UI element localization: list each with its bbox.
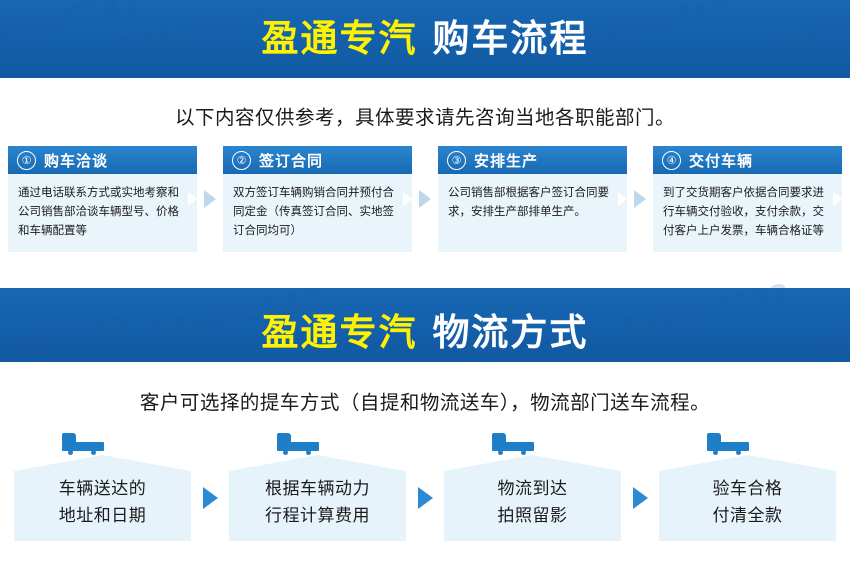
- logistics-card-body-1: 车辆送达的 地址和日期: [14, 455, 191, 541]
- truck-icon: [62, 433, 191, 455]
- truck-icon: [492, 433, 621, 455]
- truck-icon: [707, 433, 836, 455]
- section1-title-highlight: 盈通专汽: [262, 17, 418, 60]
- step-number-badge-4: ④: [662, 151, 681, 170]
- logistics-card-body-4: 验车合格 付清全款: [659, 455, 836, 541]
- logistics-card-line1-3: 物流到达: [498, 476, 568, 503]
- logistics-card-2: 根据车辆动力 行程计算费用: [229, 433, 406, 541]
- step-card-3: ③ 安排生产 公司销售部根据客户签订合同要求，安排生产部排单生产。: [438, 146, 627, 252]
- section2-title: 盈通专汽 物流方式: [0, 302, 850, 356]
- section2-title-rest: 物流方式: [432, 311, 588, 354]
- section2-title-highlight: 盈通专汽: [262, 311, 418, 354]
- step-label-2: 签订合同: [259, 150, 323, 171]
- step-number-badge-3: ③: [447, 151, 466, 170]
- step-label-4: 交付车辆: [689, 150, 753, 171]
- step-arrow-icon-3: [627, 146, 653, 252]
- logistics-card-4: 验车合格 付清全款: [659, 433, 836, 541]
- logistics-card-line1-4: 验车合格: [713, 476, 783, 503]
- step-body-2: 双方签订车辆购销合同并预付合同定金（传真签订合同、实地签订合同均可）: [223, 174, 412, 250]
- step-number-badge-1: ①: [17, 151, 36, 170]
- step-header-2: ② 签订合同: [223, 146, 412, 174]
- step-label-3: 安排生产: [474, 150, 538, 171]
- step-body-4: 到了交货期客户依据合同要求进行车辆交付验收，支付余款，交付客户上户发票，车辆合格…: [653, 174, 842, 250]
- logistics-card-line1-1: 车辆送达的: [59, 476, 147, 503]
- logistics-card-body-2: 根据车辆动力 行程计算费用: [229, 455, 406, 541]
- step-number-badge-2: ②: [232, 151, 251, 170]
- step-header-3: ③ 安排生产: [438, 146, 627, 174]
- step-arrow-icon-2: [412, 146, 438, 252]
- purchase-steps: ① 购车洽谈 通过电话联系方式或实地考察和公司销售部洽谈车辆型号、价格和车辆配置…: [0, 146, 850, 252]
- step-card-1: ① 购车洽谈 通过电话联系方式或实地考察和公司销售部洽谈车辆型号、价格和车辆配置…: [8, 146, 197, 252]
- logistics-card-body-3: 物流到达 拍照留影: [444, 455, 621, 541]
- logistics-card-line1-2: 根据车辆动力: [265, 476, 370, 503]
- logistics-card-line2-3: 拍照留影: [498, 503, 568, 530]
- logistics-steps: 车辆送达的 地址和日期 根据车辆动力 行程计算费用: [0, 433, 850, 541]
- logistics-arrow-icon-2: [406, 455, 444, 541]
- logistics-arrow-icon-1: [191, 455, 229, 541]
- step-body-1: 通过电话联系方式或实地考察和公司销售部洽谈车辆型号、价格和车辆配置等: [8, 174, 197, 250]
- section1-title-rest: 购车流程: [432, 17, 588, 60]
- section2-subtitle: 客户可选择的提车方式（自提和物流送车），物流部门送车流程。: [0, 362, 850, 433]
- logistics-card-line2-2: 行程计算费用: [265, 503, 370, 530]
- section1-banner: 盈通专汽 购车流程: [0, 0, 850, 78]
- logistics-card-1: 车辆送达的 地址和日期: [14, 433, 191, 541]
- step-arrow-icon-1: [197, 146, 223, 252]
- step-body-3: 公司销售部根据客户签订合同要求，安排生产部排单生产。: [438, 174, 627, 231]
- step-card-4: ④ 交付车辆 到了交货期客户依据合同要求进行车辆交付验收，支付余款，交付客户上户…: [653, 146, 842, 252]
- section1-title: 盈通专汽 购车流程: [0, 16, 850, 62]
- step-header-1: ① 购车洽谈: [8, 146, 197, 174]
- logistics-card-line2-4: 付清全款: [713, 503, 783, 530]
- step-card-2: ② 签订合同 双方签订车辆购销合同并预付合同定金（传真签订合同、实地签订合同均可…: [223, 146, 412, 252]
- logistics-card-3: 物流到达 拍照留影: [444, 433, 621, 541]
- step-label-1: 购车洽谈: [44, 150, 108, 171]
- step-header-4: ④ 交付车辆: [653, 146, 842, 174]
- section2-banner: 盈通专汽 物流方式: [0, 288, 850, 362]
- truck-icon: [277, 433, 406, 455]
- logistics-card-line2-1: 地址和日期: [59, 503, 147, 530]
- section1-subtitle: 以下内容仅供参考，具体要求请先咨询当地各职能部门。: [0, 78, 850, 146]
- logistics-arrow-icon-3: [621, 455, 659, 541]
- page-root: 138865242 13886852 138865242 13886 13886…: [0, 0, 850, 564]
